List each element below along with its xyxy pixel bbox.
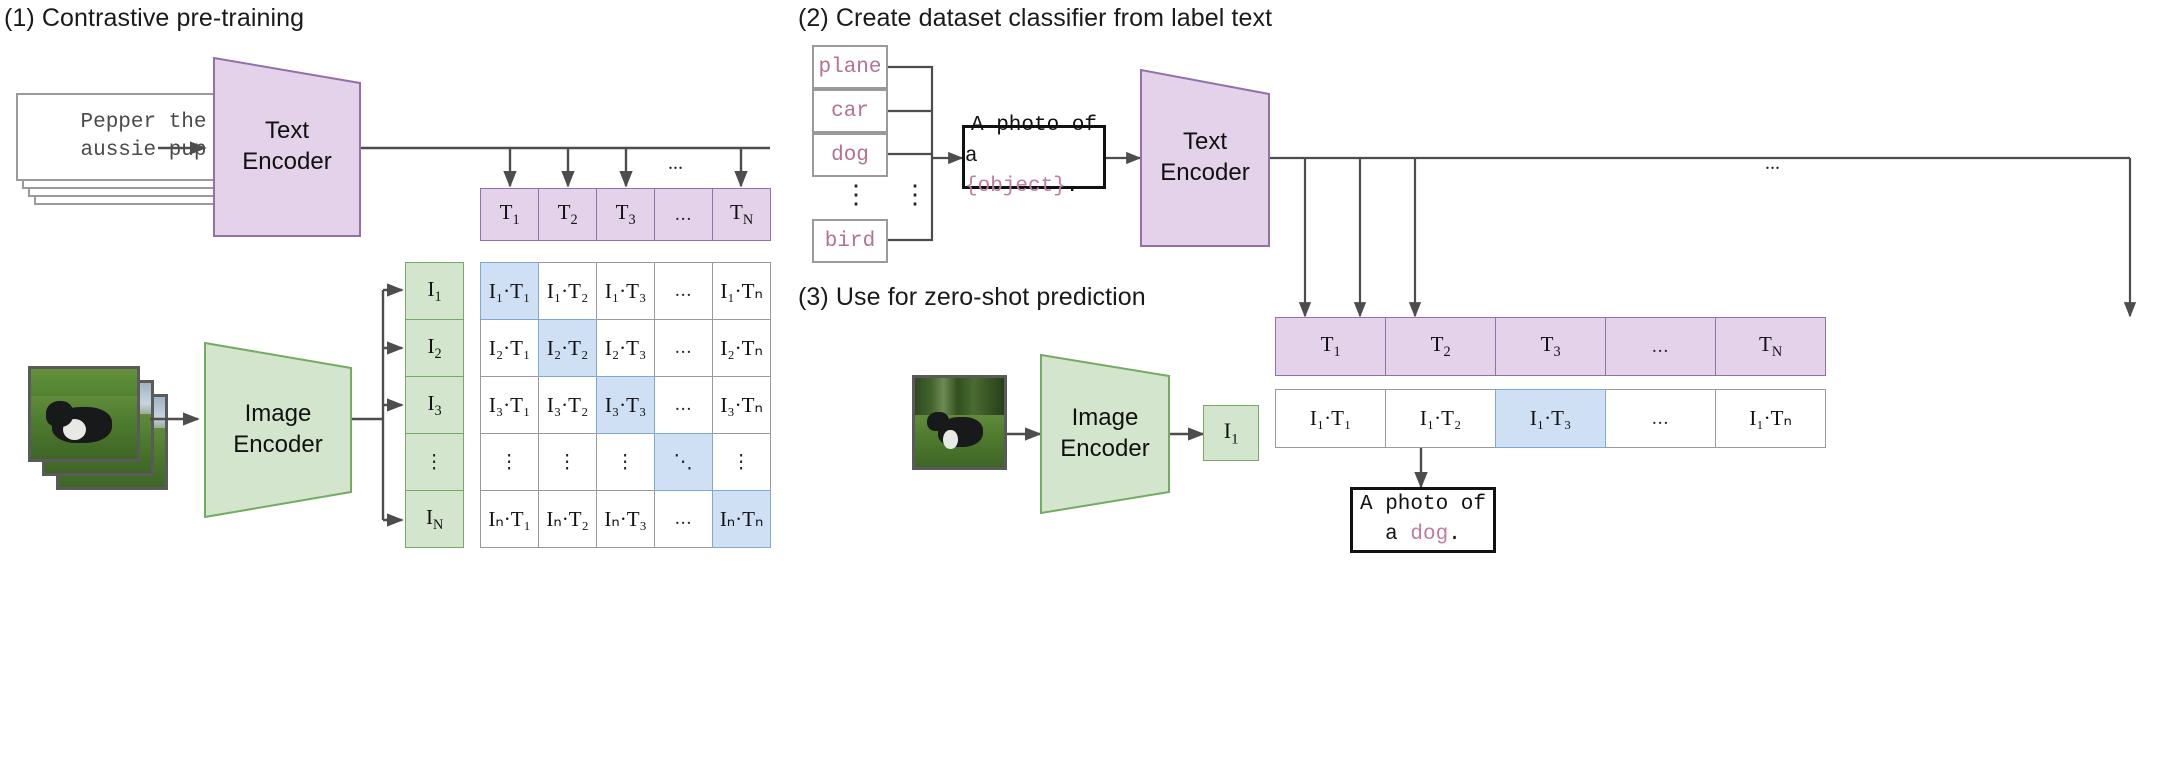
ellipsis-glyph: ⋮ xyxy=(732,451,752,474)
section-3-title: (3) Use for zero-shot prediction xyxy=(798,283,1146,312)
ellipsis-glyph: ⋮ xyxy=(425,451,445,474)
ellipsis-glyph: ... xyxy=(675,508,692,530)
text-embedding-cell-4: ... xyxy=(654,188,713,241)
image-encoder-1[interactable]: ImageEncoder xyxy=(204,342,352,518)
ellipsis-glyph: ⋮ xyxy=(616,451,636,474)
training-image-stack xyxy=(28,366,173,491)
similarity-cell-4-4: ⋱ xyxy=(654,433,713,491)
similarity-cell-2-4: ... xyxy=(654,319,713,377)
text-encoder-1[interactable]: TextEncoder xyxy=(213,57,361,237)
image-embedding-cell-1: I1 xyxy=(405,262,464,320)
ellipsis-glyph: ... xyxy=(1652,336,1669,358)
text-embedding-cell-3: T3 xyxy=(596,188,655,241)
text-embedding-cell-5: TN xyxy=(712,188,771,241)
text-bus-ellipsis-1: ... xyxy=(668,152,683,175)
similarity-cell-3-2: I₃·T₂ xyxy=(538,376,597,434)
similarity-cell-2-3: I₂·T₃ xyxy=(596,319,655,377)
class-label-dog-text: dog xyxy=(831,144,869,167)
similarity-cell-1-1: I₁·T₁ xyxy=(480,262,539,320)
image-embedding-cell-2: I2 xyxy=(405,319,464,377)
prompt-line-2: a {object}. xyxy=(965,142,1103,203)
section-1-title: (1) Contrastive pre-training xyxy=(4,4,304,33)
image-encoder-3[interactable]: ImageEncoder xyxy=(1040,354,1170,514)
prediction-output-box: A photo of a dog. xyxy=(1350,487,1496,553)
similarity-cell-4-2: ⋮ xyxy=(538,433,597,491)
similarity-cell-2-2: I₂·T₂ xyxy=(538,319,597,377)
text-embedding-2-cell-5: TN xyxy=(1715,317,1826,376)
class-label-plane-text: plane xyxy=(818,56,881,79)
similarity-cell-1-5: I₁·Tₙ xyxy=(712,262,771,320)
prediction-cell-3: I₁·T₃ xyxy=(1495,389,1606,448)
similarity-cell-1-2: I₁·T₂ xyxy=(538,262,597,320)
ellipsis-glyph: ... xyxy=(1652,408,1669,430)
prediction-cell-2: I₁·T₂ xyxy=(1385,389,1496,448)
text-embedding-cell-2: T2 xyxy=(538,188,597,241)
section-2-title: (2) Create dataset classifier from label… xyxy=(798,4,1272,33)
text-embedding-2-cell-2: T2 xyxy=(1385,317,1496,376)
ellipsis-glyph: ... xyxy=(675,394,692,416)
similarity-cell-2-5: I₂·Tₙ xyxy=(712,319,771,377)
text-encoder-2-label: TextEncoder xyxy=(1160,127,1249,188)
prediction-period: . xyxy=(1448,523,1461,546)
similarity-cell-5-2: Iₙ·T₂ xyxy=(538,490,597,548)
prediction-cell-1: I₁·T₁ xyxy=(1275,389,1386,448)
similarity-cell-5-3: Iₙ·T₃ xyxy=(596,490,655,548)
prompt-template-box: A photo of a {object}. xyxy=(962,125,1106,189)
similarity-cell-3-5: I₃·Tₙ xyxy=(712,376,771,434)
ellipsis-glyph: ... xyxy=(675,337,692,359)
text-embedding-row-2: T1T2T3...TN xyxy=(1276,318,1826,376)
image-encoder-3-label: ImageEncoder xyxy=(1060,403,1149,464)
class-label-dog[interactable]: dog xyxy=(812,133,888,177)
class-label-car[interactable]: car xyxy=(812,89,888,133)
class-labels-ellipsis: ⋮ xyxy=(843,189,869,201)
ellipsis-glyph: ⋱ xyxy=(674,451,694,474)
training-text-label: Pepper theaussie pup xyxy=(80,109,206,166)
photo-trees xyxy=(915,378,1004,419)
prediction-object-token: dog xyxy=(1410,523,1448,546)
photo-dog-head xyxy=(46,401,74,426)
photo-sky xyxy=(31,369,137,400)
class-label-car-text: car xyxy=(831,100,869,123)
similarity-cell-1-3: I₁·T₃ xyxy=(596,262,655,320)
image-encoder-1-label: ImageEncoder xyxy=(233,399,322,460)
similarity-cell-4-5: ⋮ xyxy=(712,433,771,491)
ellipsis-glyph: ⋮ xyxy=(500,451,520,474)
text-encoder-2[interactable]: TextEncoder xyxy=(1140,69,1270,247)
photo-dog-chest xyxy=(943,430,957,450)
class-label-bird[interactable]: bird xyxy=(812,219,888,263)
ellipsis-glyph: ⋮ xyxy=(558,451,578,474)
text-embedding-2-cell-3: T3 xyxy=(1495,317,1606,376)
class-connectors-ellipsis: ⋮ xyxy=(902,189,928,201)
zero-shot-image-embedding: I1 xyxy=(1203,405,1259,461)
similarity-cell-3-3: I₃·T₃ xyxy=(596,376,655,434)
image-embedding-column-1: I1I2I3⋮IN xyxy=(406,263,464,548)
prediction-cell-4: ... xyxy=(1605,389,1716,448)
image-embedding-cell-3: I3 xyxy=(405,376,464,434)
similarity-cell-4-3: ⋮ xyxy=(596,433,655,491)
text-embedding-row-1: T1T2T3...TN xyxy=(481,189,771,241)
prompt-object-token: {object} xyxy=(965,175,1066,198)
text-embedding-2-cell-1: T1 xyxy=(1275,317,1386,376)
similarity-matrix: I₁·T₁I₁·T₂I₁·T₃...I₁·TₙI₂·T₁I₂·T₂I₂·T₃..… xyxy=(481,263,771,548)
class-label-bird-text: bird xyxy=(825,230,875,253)
similarity-cell-3-4: ... xyxy=(654,376,713,434)
text-embedding-2-cell-4: ... xyxy=(1605,317,1716,376)
text-embedding-cell-1: T1 xyxy=(480,188,539,241)
prompt-line-1: A photo of xyxy=(971,111,1097,141)
class-label-plane[interactable]: plane xyxy=(812,45,888,89)
training-image-front xyxy=(28,366,140,462)
similarity-cell-4-1: ⋮ xyxy=(480,433,539,491)
text-encoder-1-label: TextEncoder xyxy=(242,116,331,177)
ellipsis-glyph: ... xyxy=(675,280,692,302)
prediction-line-2: a dog. xyxy=(1385,520,1461,550)
photo-dog-head xyxy=(927,412,948,432)
prediction-line-1: A photo of xyxy=(1360,490,1486,520)
similarity-cell-5-4: ... xyxy=(654,490,713,548)
text-bus-ellipsis-2: ... xyxy=(1765,152,1780,175)
image-embedding-cell-5: IN xyxy=(405,490,464,548)
similarity-cell-1-4: ... xyxy=(654,262,713,320)
zero-shot-input-image xyxy=(912,375,1007,470)
image-embedding-cell-4: ⋮ xyxy=(405,433,464,491)
similarity-cell-5-5: Iₙ·Tₙ xyxy=(712,490,771,548)
similarity-cell-5-1: Iₙ·T₁ xyxy=(480,490,539,548)
prediction-article: a xyxy=(1385,523,1410,546)
prediction-row: I₁·T₁I₁·T₂I₁·T₃...I₁·Tₙ xyxy=(1276,390,1826,448)
zero-shot-image-embedding-label: I1 xyxy=(1224,418,1239,448)
similarity-cell-3-1: I₃·T₁ xyxy=(480,376,539,434)
similarity-cell-2-1: I₂·T₁ xyxy=(480,319,539,377)
prediction-cell-5: I₁·Tₙ xyxy=(1715,389,1826,448)
prompt-article: a xyxy=(965,145,978,168)
ellipsis-glyph: ... xyxy=(675,204,692,226)
